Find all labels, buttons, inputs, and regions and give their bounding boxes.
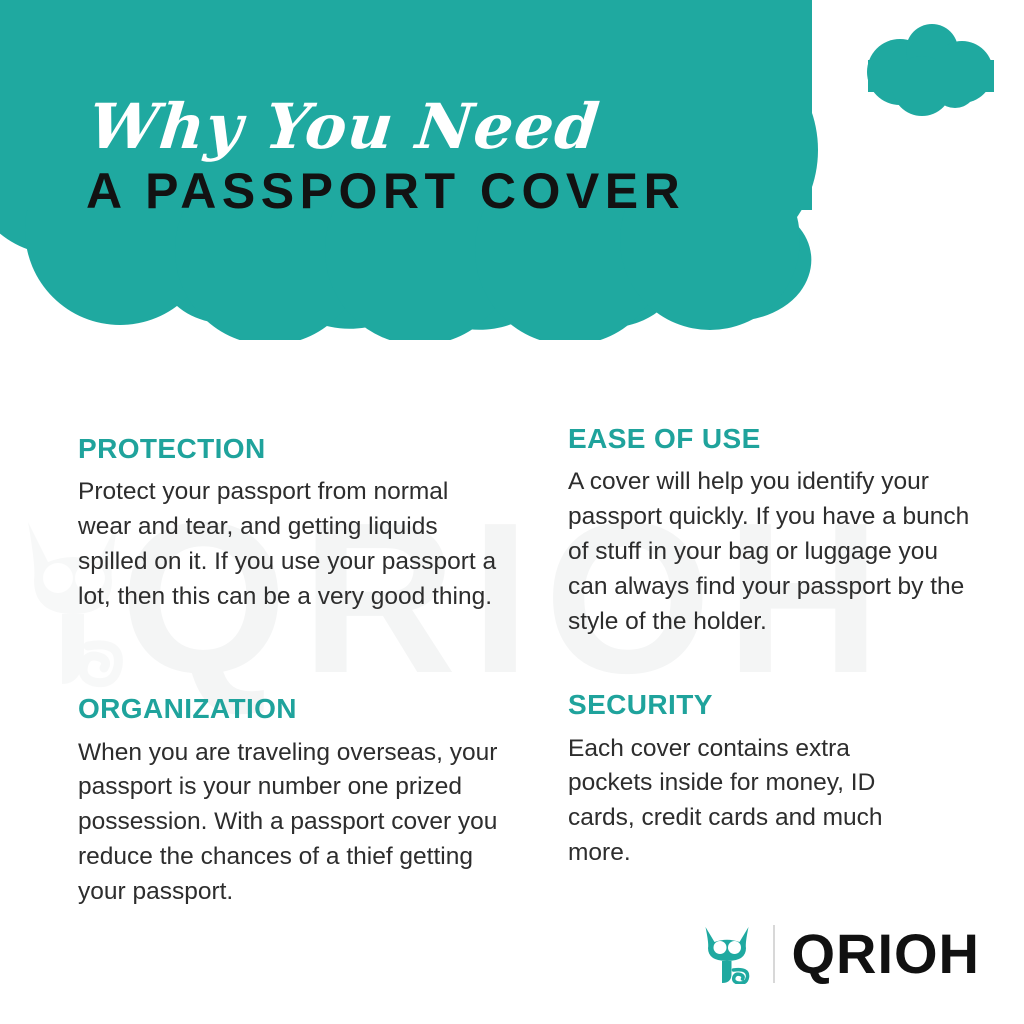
panel-heading-security: SECURITY [568,690,1024,719]
panel-security: SECURITY Each cover contains extra pocke… [568,639,1024,909]
logo-wordmark: QRIOH [791,926,980,982]
panel-body-security: Each cover contains extra pockets inside… [568,732,928,871]
panel-body-organization: When you are traveling overseas, your pa… [78,736,503,910]
panel-protection: PROTECTION Protect your passport from no… [78,410,546,639]
infographic-canvas: QRIOH [0,0,1024,1024]
title-main-line: A PASSPORT COVER [86,166,846,216]
brand-logo: QRIOH [699,922,980,986]
panel-heading-organization: ORGANIZATION [78,694,546,723]
logo-divider [773,925,775,983]
panel-heading-protection: PROTECTION [78,434,546,463]
panel-ease-of-use: EASE OF USE A cover will help you identi… [568,410,1024,639]
panel-heading-ease-of-use: EASE OF USE [568,424,1024,453]
panel-body-ease-of-use: A cover will help you identify your pass… [568,465,980,639]
title-script-line: Why You Need [86,96,853,158]
panels-grid: PROTECTION Protect your passport from no… [0,410,1024,910]
cat-icon [699,924,755,984]
title-block: Why You Need A PASSPORT COVER [86,96,846,216]
panel-body-protection: Protect your passport from normal wear a… [78,475,503,614]
panel-organization: ORGANIZATION When you are traveling over… [78,639,546,909]
